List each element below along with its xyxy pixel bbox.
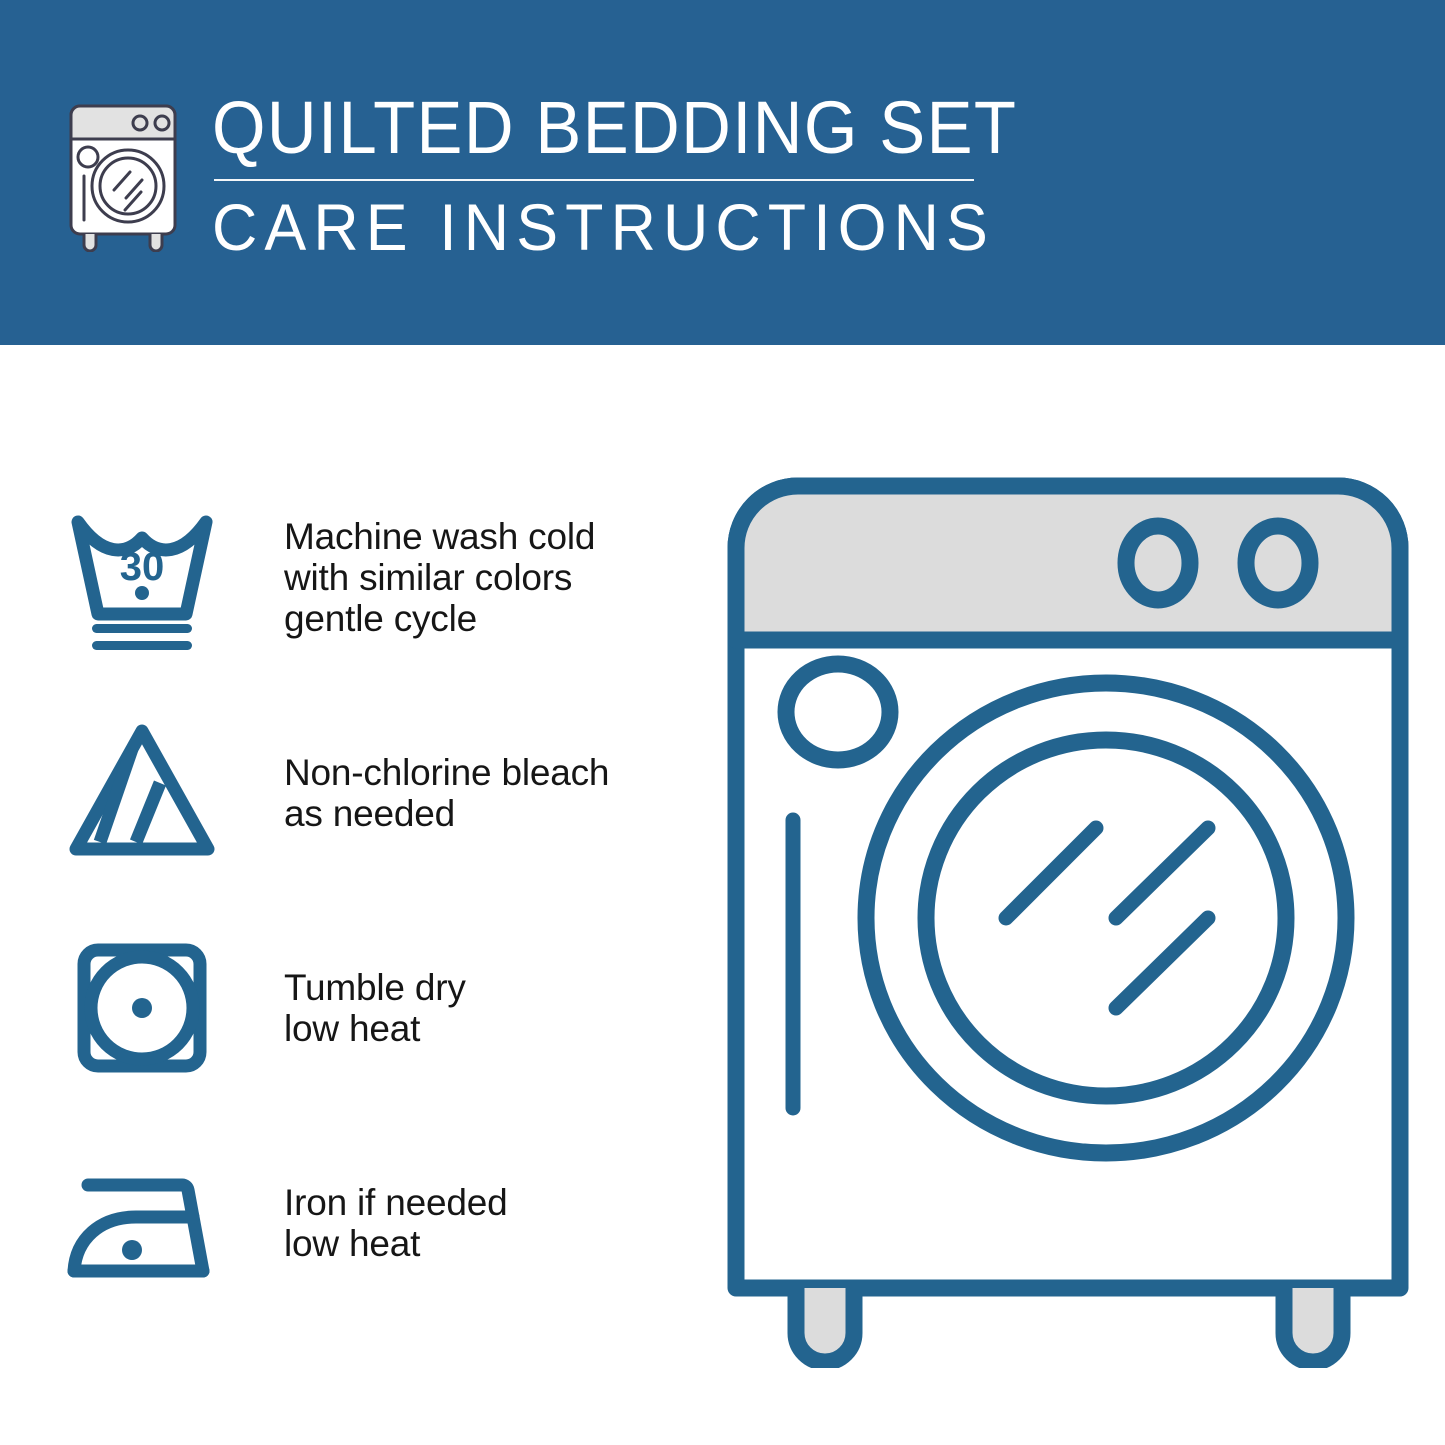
care-row-iron: Iron if needed low heat	[62, 1115, 682, 1330]
foot-right	[1284, 1288, 1342, 1362]
care-text-machine-wash: Machine wash cold with similar colors ge…	[284, 516, 595, 639]
iron-low-heat-icon	[62, 1143, 222, 1303]
knob-left	[1126, 526, 1190, 600]
care-row-bleach: Non-chlorine bleach as needed	[62, 685, 682, 900]
wash-temp-value: 30	[120, 545, 165, 589]
care-text-iron: Iron if needed low heat	[284, 1182, 507, 1264]
page-title: QUILTED BEDDING SET	[212, 86, 1017, 170]
foot-left	[796, 1288, 854, 1362]
non-chlorine-bleach-triangle-icon	[62, 713, 222, 873]
care-line: low heat	[284, 1008, 466, 1049]
care-text-bleach: Non-chlorine bleach as needed	[284, 752, 609, 834]
washing-machine-illustration	[718, 468, 1418, 1368]
care-line: gentle cycle	[284, 598, 595, 639]
care-row-machine-wash: 30 Machine wash cold with similar colors…	[62, 470, 682, 685]
indicator-circle	[786, 664, 890, 760]
care-line: Iron if needed	[284, 1182, 507, 1223]
header-text-block: QUILTED BEDDING SET CARE INSTRUCTIONS	[212, 86, 1078, 263]
care-line: with similar colors	[284, 557, 595, 598]
care-instructions-page: QUILTED BEDDING SET CARE INSTRUCTIONS 30	[0, 0, 1445, 1445]
wash-tub-30-gentle-icon: 30	[62, 498, 222, 658]
care-instruction-list: 30 Machine wash cold with similar colors…	[62, 470, 682, 1330]
header-divider	[214, 179, 974, 181]
page-subtitle: CARE INSTRUCTIONS	[212, 191, 1035, 263]
washing-machine-icon	[62, 100, 184, 252]
care-line: as needed	[284, 793, 609, 834]
care-text-tumble-dry: Tumble dry low heat	[284, 967, 466, 1049]
door-inner-ring	[926, 740, 1286, 1096]
care-line: low heat	[284, 1223, 507, 1264]
care-line: Machine wash cold	[284, 516, 595, 557]
knob-right	[1246, 526, 1310, 600]
care-line: Non-chlorine bleach	[284, 752, 609, 793]
page-header: QUILTED BEDDING SET CARE INSTRUCTIONS	[0, 0, 1445, 345]
care-row-tumble-dry: Tumble dry low heat	[62, 900, 682, 1115]
tumble-dry-low-icon	[62, 928, 222, 1088]
care-line: Tumble dry	[284, 967, 466, 1008]
